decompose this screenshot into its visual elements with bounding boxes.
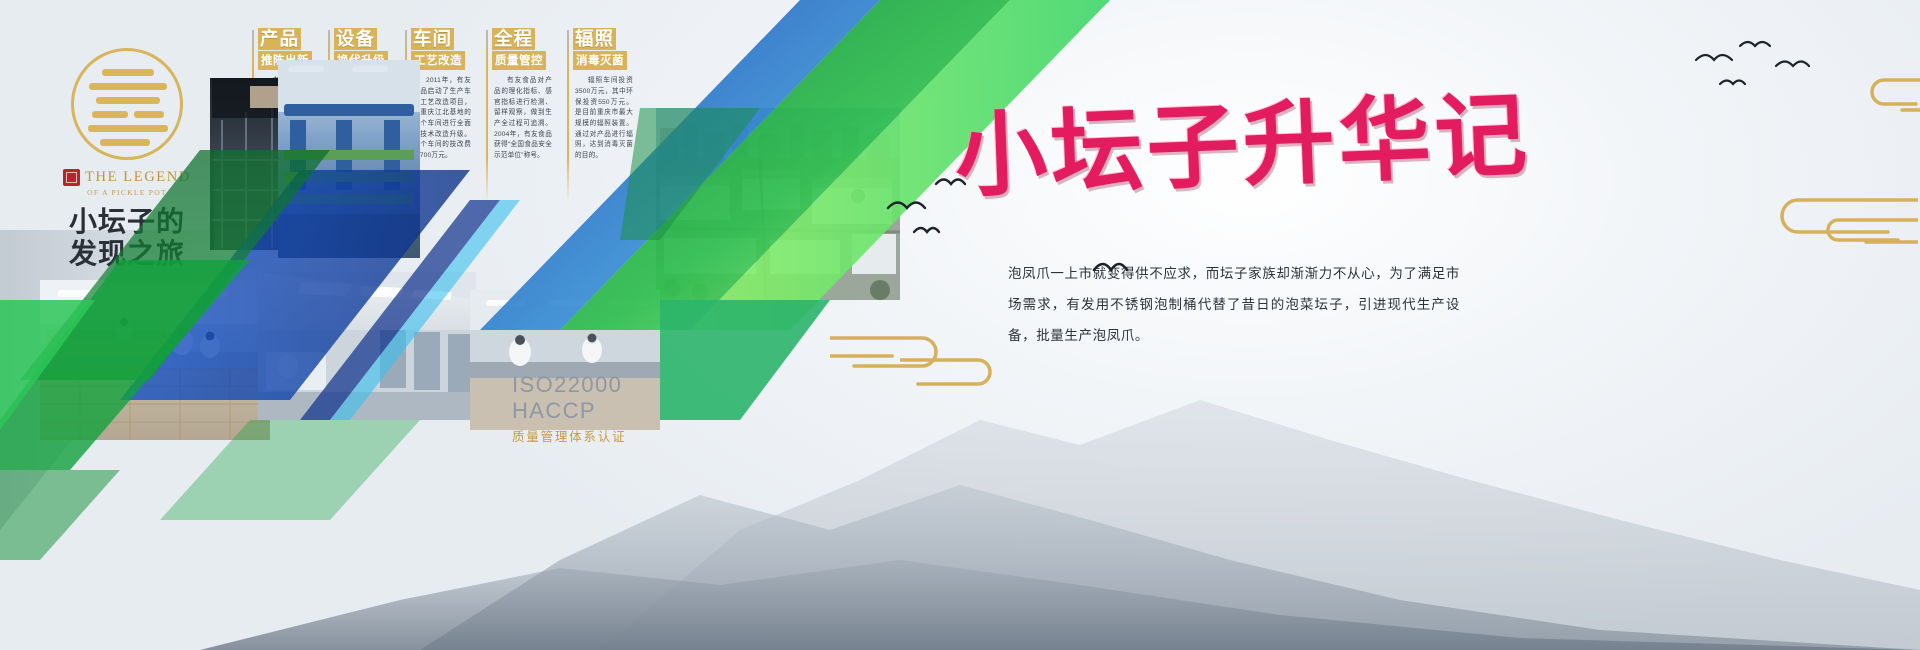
certification-caption: 质量管理体系认证 [512,426,626,445]
poster-canvas: THE LEGEND OF A PICKLE POT 小坛子的 发现之旅 A P… [0,0,1920,650]
gold-cloud-motif-topright [1850,70,1920,120]
certification-block: ISO22000 HACCP 质量管理体系认证 [512,372,626,445]
gold-cloud-motif-right [1588,190,1918,260]
certification-haccp: HACCP [512,398,626,424]
gold-cloud-motif-lower [900,352,1010,392]
page-title: 小坛子升华记 [953,82,1497,223]
flying-bird-single [1090,252,1136,282]
intro-paragraph: 泡凤爪一上市就变得供不应求，而坛子家族却渐渐力不从心，为了满足市场需求，有发用不… [1008,258,1460,351]
flying-birds-topright [1690,38,1820,98]
flying-birds-left [880,170,990,240]
certification-iso: ISO22000 [512,372,626,398]
